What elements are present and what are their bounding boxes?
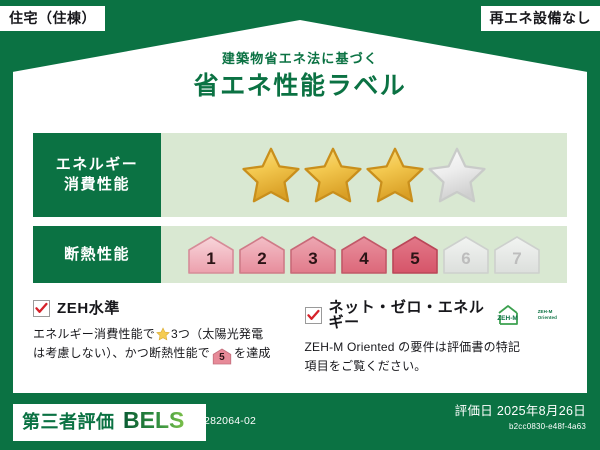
criteria-nzeb-body-line2: 項目をご覧ください。 xyxy=(305,359,427,373)
energy-performance-label-line2: 消費性能 xyxy=(64,175,130,195)
corner-tag-building-type: 住宅（住棟） xyxy=(0,6,105,31)
criteria-section: ZEH水準 エネルギー消費性能で3つ（太陽光発電 は考慮しない）、かつ断熱性能で… xyxy=(33,300,567,377)
label-title: 建築物省エネ法に基づく 省エネ性能ラベル xyxy=(0,52,600,99)
insulation-level-badge: 7 xyxy=(493,235,541,275)
criteria-zeh-body-part4: を達成 xyxy=(234,346,271,360)
insulation-level-badge-value: 4 xyxy=(359,250,368,275)
insulation-level-badge-value: 3 xyxy=(308,250,317,275)
title-subtitle: 建築物省エネ法に基づく xyxy=(0,52,600,65)
insulation-performance-row: 断熱性能 1234567 xyxy=(33,226,567,283)
inline-insulation-badge-value: 5 xyxy=(212,348,232,367)
energy-performance-value xyxy=(161,133,567,217)
evaluation-hash: b2cc0830-e48f-4a63 xyxy=(455,423,586,431)
corner-tag-renewable-energy: 再エネ設備なし xyxy=(481,6,600,31)
insulation-level-badge-value: 1 xyxy=(206,250,215,275)
criteria-zeh-body-part3: は考慮しない）、かつ断熱性能で xyxy=(33,346,210,360)
star-icon-filled xyxy=(302,145,364,205)
criteria-nzeb: ネット・ゼロ・エネルギー ZEH-M ZEH-M Oriented ZEH-M … xyxy=(296,300,568,377)
svg-text:BELS: BELS xyxy=(123,408,184,432)
star-icon-inline xyxy=(156,327,170,341)
check-icon xyxy=(307,309,320,322)
zeh-m-logo-sub-line1: ZEH-M xyxy=(538,309,553,314)
bels-badge: 第三者評価 BELS xyxy=(13,404,206,441)
zeh-m-logo: ZEH-M ZEH-M Oriented xyxy=(497,304,557,326)
insulation-performance-label: 断熱性能 xyxy=(33,226,161,283)
title-main: 省エネ性能ラベル xyxy=(0,74,600,99)
bels-certificate-number: 0282064-02 xyxy=(198,415,256,427)
zeh-m-logo-sub: ZEH-M Oriented xyxy=(538,309,557,320)
criteria-nzeb-body-line1: ZEH-M Oriented の要件は評価書の特記 xyxy=(305,340,521,354)
insulation-level-badges: 1234567 xyxy=(187,235,541,275)
check-icon xyxy=(35,302,48,315)
insulation-performance-value: 1234567 xyxy=(161,226,567,283)
third-party-evaluation-label: 第三者評価 xyxy=(22,413,115,431)
label-footer: 第三者評価 BELS 0282064-02 評価日 2025年8月26日 b2 xyxy=(0,398,600,450)
criteria-zeh-body: エネルギー消費性能で3つ（太陽光発電 は考慮しない）、かつ断熱性能で5を達成 xyxy=(33,325,286,364)
energy-performance-row: エネルギー 消費性能 xyxy=(33,133,567,217)
insulation-level-badge: 4 xyxy=(340,235,388,275)
star-icon-filled xyxy=(240,145,302,205)
criteria-zeh-title: ZEH水準 xyxy=(57,301,120,316)
checkbox-zeh[interactable] xyxy=(33,300,50,317)
criteria-zeh-body-part1: エネルギー消費性能で xyxy=(33,327,155,341)
criteria-zeh: ZEH水準 エネルギー消費性能で3つ（太陽光発電 は考慮しない）、かつ断熱性能で… xyxy=(33,300,296,377)
insulation-level-badge-value: 2 xyxy=(257,250,266,275)
checkbox-nzeb[interactable] xyxy=(305,307,322,324)
energy-performance-label: エネルギー 消費性能 xyxy=(33,133,161,217)
star-rating xyxy=(240,145,488,205)
zeh-m-logo-sub-line2: Oriented xyxy=(538,315,557,320)
star-icon-filled xyxy=(364,145,426,205)
criteria-zeh-body-part2: 3つ（太陽光発電 xyxy=(171,327,263,341)
insulation-level-badge: 5 xyxy=(391,235,439,275)
bels-logo: BELS xyxy=(123,408,197,436)
criteria-nzeb-body: ZEH-M Oriented の要件は評価書の特記 項目をご覧ください。 xyxy=(305,338,558,377)
insulation-level-badge-value: 6 xyxy=(461,250,470,275)
insulation-level-badge: 1 xyxy=(187,235,235,275)
insulation-level-badge: 2 xyxy=(238,235,286,275)
insulation-level-badge: 6 xyxy=(442,235,490,275)
svg-text:ZEH-M: ZEH-M xyxy=(497,315,518,322)
evaluation-date: 評価日 2025年8月26日 xyxy=(455,405,586,418)
energy-label-root: 住宅（住棟） 再エネ設備なし 建築物省エネ法に基づく 省エネ性能ラベル エネルギ… xyxy=(0,0,600,450)
criteria-zeh-header: ZEH水準 xyxy=(33,300,286,317)
criteria-nzeb-header: ネット・ゼロ・エネルギー ZEH-M ZEH-M Oriented xyxy=(305,300,558,330)
insulation-level-badge-value: 5 xyxy=(410,250,419,275)
bels-wordmark-icon: BELS xyxy=(123,408,197,432)
zeh-m-house-icon: ZEH-M xyxy=(497,304,535,326)
footer-right: 評価日 2025年8月26日 b2cc0830-e48f-4a63 xyxy=(455,405,586,431)
energy-performance-label-line1: エネルギー xyxy=(56,155,139,175)
inline-insulation-badge: 5 xyxy=(212,348,232,364)
insulation-level-badge-value: 7 xyxy=(512,250,521,275)
criteria-nzeb-title: ネット・ゼロ・エネルギー xyxy=(329,300,486,330)
insulation-level-badge: 3 xyxy=(289,235,337,275)
star-icon-empty xyxy=(426,145,488,205)
